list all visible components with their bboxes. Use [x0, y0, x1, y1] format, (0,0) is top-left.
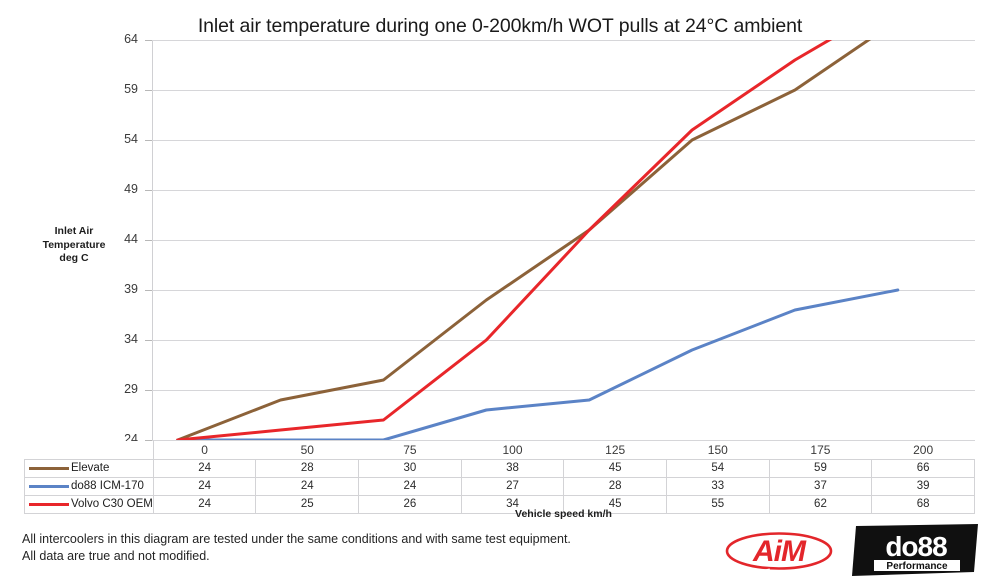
do88-logo: do88 Performance [852, 524, 980, 578]
table-header-row: 05075100125150175200 [25, 441, 975, 460]
legend-label: do88 ICM-170 [71, 478, 144, 495]
data-table: 05075100125150175200Elevate2428303845545… [24, 440, 975, 514]
series-line [178, 290, 898, 440]
legend-color-swatch [29, 485, 69, 488]
y-tick-mark [145, 140, 152, 141]
x-tick-label: 0 [153, 441, 256, 460]
x-tick-label: 175 [769, 441, 872, 460]
y-tick-label: 29 [98, 382, 138, 396]
footer-note: All intercoolers in this diagram are tes… [22, 531, 571, 564]
table-cell: 30 [359, 460, 462, 478]
table-cell: 37 [769, 478, 872, 496]
series-lines [152, 40, 975, 440]
table-header-corner [25, 441, 154, 460]
table-cell: 24 [153, 460, 256, 478]
y-tick-mark [145, 240, 152, 241]
series-line [178, 40, 898, 440]
y-tick-label: 49 [98, 182, 138, 196]
legend-label: Volvo C30 OEM [71, 496, 153, 513]
table-cell: 24 [153, 478, 256, 496]
footer-note-line-1: All intercoolers in this diagram are tes… [22, 531, 571, 548]
x-tick-label: 75 [359, 441, 462, 460]
y-tick-label: 64 [98, 32, 138, 46]
x-tick-label: 200 [872, 441, 975, 460]
y-tick-mark [145, 340, 152, 341]
y-tick-label: 59 [98, 82, 138, 96]
logo-group: AiM do88 Performance [724, 524, 980, 580]
y-tick-mark [145, 390, 152, 391]
svg-text:do88: do88 [885, 531, 947, 562]
y-axis-title-line-3: deg C [18, 252, 130, 266]
table-cell: 33 [666, 478, 769, 496]
x-tick-label: 50 [256, 441, 359, 460]
y-tick-mark [145, 40, 152, 41]
legend-color-swatch [29, 503, 69, 506]
x-tick-label: 100 [461, 441, 564, 460]
legend-color-swatch [29, 467, 69, 470]
chart-page: Inlet air temperature during one 0-200km… [0, 0, 1000, 588]
series-line [178, 40, 898, 440]
y-tick-mark [145, 190, 152, 191]
y-tick-label: 44 [98, 232, 138, 246]
table-cell: 66 [872, 460, 975, 478]
y-tick-mark [145, 290, 152, 291]
table-cell: 28 [256, 460, 359, 478]
svg-text:Performance: Performance [886, 561, 948, 572]
svg-text:AiM: AiM [752, 535, 807, 568]
table-cell: 54 [666, 460, 769, 478]
table-cell: 28 [564, 478, 667, 496]
footer-note-line-2: All data are true and not modified. [22, 548, 571, 565]
y-tick-label: 34 [98, 332, 138, 346]
y-tick-label: 39 [98, 282, 138, 296]
x-tick-label: 125 [564, 441, 667, 460]
y-tick-mark [145, 90, 152, 91]
table-cell: 39 [872, 478, 975, 496]
y-tick-label: 54 [98, 132, 138, 146]
table-cell: 45 [564, 460, 667, 478]
table-cell: 59 [769, 460, 872, 478]
x-tick-label: 150 [666, 441, 769, 460]
page-title: Inlet air temperature during one 0-200km… [0, 15, 1000, 38]
table-row: do88 ICM-1702424242728333739 [25, 478, 975, 496]
plot-area [152, 40, 975, 440]
legend-entry[interactable]: Elevate [25, 460, 154, 478]
x-axis-title: Vehicle speed km/h [152, 508, 975, 520]
legend-entry[interactable]: Volvo C30 OEM [25, 496, 154, 514]
aim-logo: AiM [724, 528, 834, 574]
table-row: Elevate2428303845545966 [25, 460, 975, 478]
legend-entry[interactable]: do88 ICM-170 [25, 478, 154, 496]
table-cell: 24 [359, 478, 462, 496]
table-cell: 27 [461, 478, 564, 496]
table-cell: 24 [256, 478, 359, 496]
table-cell: 38 [461, 460, 564, 478]
legend-label: Elevate [71, 460, 109, 477]
